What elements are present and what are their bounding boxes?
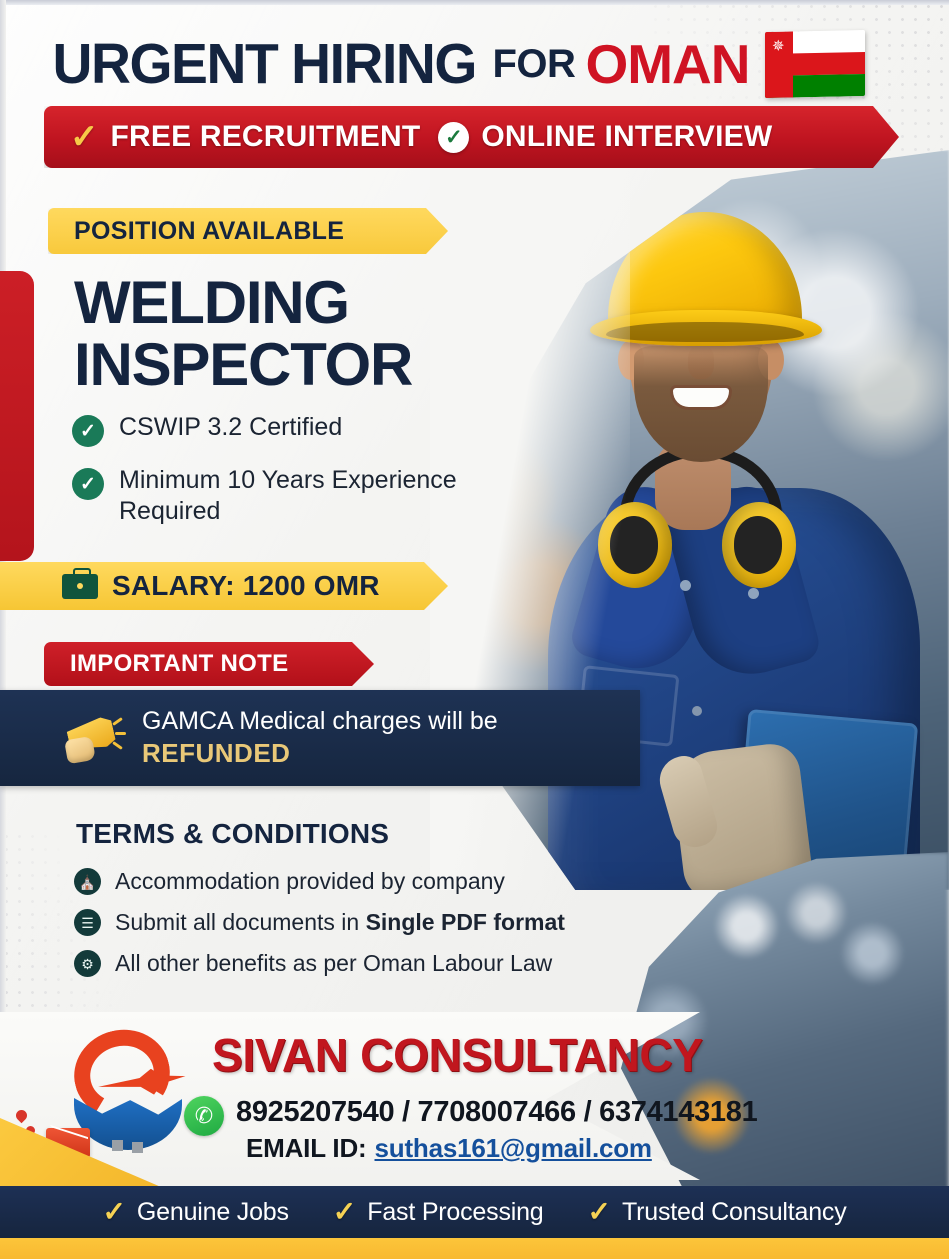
green-check-circle-icon: ✓ [72,415,104,447]
terms-item: ☰ Submit all documents in Single PDF for… [74,909,694,936]
title-urgent-hiring: URGENT HIRING [53,31,476,97]
terms-list: ⛪ Accommodation provided by company ☰ Su… [74,868,694,991]
yellow-check-icon: ✓ [102,1198,125,1226]
important-note-label: IMPORTANT NOTE [70,650,288,678]
brand-name: SIVAN CONSULTANCY [212,1028,703,1082]
important-note-tag: IMPORTANT NOTE [44,642,374,686]
whatsapp-icon[interactable]: ✆ [184,1096,224,1136]
terms-text: All other benefits as per Oman Labour La… [115,950,552,977]
note-text: GAMCA Medical charges will be REFUNDED [142,705,498,770]
title-country: OMAN [585,32,749,96]
top-edge-border [0,0,949,5]
red-accent-bar [0,271,34,561]
note-line2: REFUNDED [142,738,290,768]
ribbon-item-online-interview: ✓ ONLINE INTERVIEW [438,120,772,154]
green-check-circle-icon: ✓ [438,122,469,153]
benefits-ribbon: ✓ FREE RECRUITMENT ✓ ONLINE INTERVIEW [44,106,899,168]
requirements-list: ✓ CSWIP 3.2 Certified ✓ Minimum 10 Years… [72,412,492,546]
megaphone-icon [62,712,124,764]
email-address[interactable]: suthas161@gmail.com [375,1133,652,1164]
page-title: URGENT HIRING FOR OMAN ✵ [46,28,916,100]
worker-button [748,588,759,599]
terms-heading: TERMS & CONDITIONS [76,818,389,850]
bottom-yellow-strip [0,1238,949,1259]
requirement-text: Minimum 10 Years Experience Required [119,465,492,528]
recruitment-poster: URGENT HIRING FOR OMAN ✵ ✓ FREE RECRUITM… [0,0,949,1259]
trust-item-genuine-jobs: ✓ Genuine Jobs [102,1198,288,1227]
requirement-item: ✓ Minimum 10 Years Experience Required [72,465,492,528]
position-available-tag: POSITION AVAILABLE [48,208,448,254]
phone-numbers[interactable]: 8925207540 / 7708007466 / 6374143181 [236,1096,757,1129]
yellow-check-icon: ✓ [70,120,99,154]
job-title-line1: WELDING [74,272,494,334]
trust-item-trusted-consultancy: ✓ Trusted Consultancy [588,1198,847,1227]
salary-banner: SALARY: 1200 OMR [0,562,448,610]
yellow-check-icon: ✓ [588,1198,611,1226]
yellow-check-icon: ✓ [333,1198,356,1226]
hard-hat-shadow [606,322,804,342]
worker-button [692,706,702,716]
salary-label: SALARY: 1200 OMR [112,570,380,602]
job-title-line2: INSPECTOR [74,334,494,396]
ear-muff-left-pad [610,516,658,574]
worker-nose [688,345,714,379]
ribbon-label: FREE RECRUITMENT [111,120,421,154]
requirement-text: CSWIP 3.2 Certified [119,412,342,443]
sivan-plane-wave-logo [52,1026,204,1162]
trust-label: Trusted Consultancy [622,1198,847,1227]
oman-flag-icon: ✵ [765,30,865,98]
terms-item: ⛪ Accommodation provided by company [74,868,694,895]
ear-muff-right-pad [734,516,782,574]
worker-button [680,580,691,591]
briefcase-icon [62,574,98,599]
title-for: FOR [493,42,576,87]
position-available-label: POSITION AVAILABLE [74,217,344,246]
ribbon-label: ONLINE INTERVIEW [481,120,772,154]
bottom-trust-bar: ✓ Genuine Jobs ✓ Fast Processing ✓ Trust… [0,1186,949,1238]
worker-smile [673,388,729,407]
trust-label: Genuine Jobs [137,1198,289,1227]
requirement-item: ✓ CSWIP 3.2 Certified [72,412,492,447]
note-line1: GAMCA Medical charges will be [142,707,498,735]
gear-globe-icon: ⚙ [74,950,101,977]
trust-item-fast-processing: ✓ Fast Processing [333,1198,544,1227]
terms-item: ⚙ All other benefits as per Oman Labour … [74,950,694,977]
job-title: WELDING INSPECTOR [74,272,494,396]
terms-text: Submit all documents in Single PDF forma… [115,909,565,936]
building-icon: ⛪ [74,868,101,895]
green-check-circle-icon: ✓ [72,468,104,500]
trust-label: Fast Processing [367,1198,543,1227]
email-row: EMAIL ID: suthas161@gmail.com [246,1133,652,1164]
important-note-band: GAMCA Medical charges will be REFUNDED [0,690,640,786]
terms-text: Accommodation provided by company [115,868,505,895]
ribbon-item-free-recruitment: ✓ FREE RECRUITMENT [70,120,420,154]
email-label: EMAIL ID: [246,1133,367,1164]
document-icon: ☰ [74,909,101,936]
terms-text-bold: Single PDF format [366,909,565,935]
